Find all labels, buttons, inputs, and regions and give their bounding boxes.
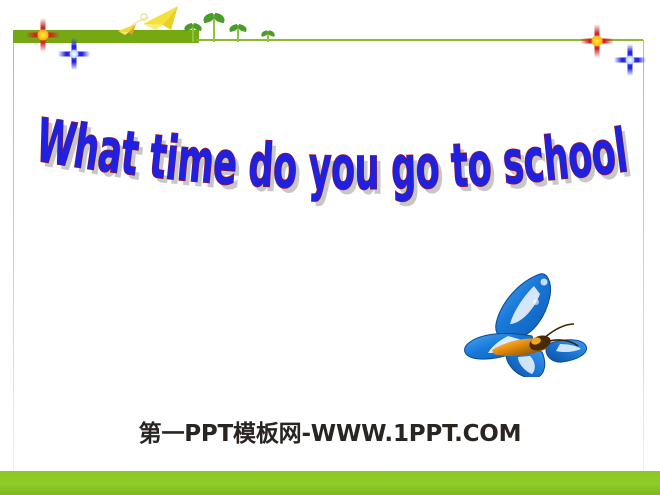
sparkle-star-icon [614,44,646,76]
sparkle-star-icon [58,38,90,70]
sprout-icon [185,24,201,42]
bottom-decorative-band [0,471,660,495]
slide-title: What time do you go to school What time … [0,108,660,223]
sprout-icon [262,31,274,42]
presentation-slide: What time do you go to school What time … [0,0,660,495]
right-vertical-rule [643,40,644,470]
plane-motion-swirl-icon [124,8,164,34]
sparkle-star-icon [580,24,614,58]
sparkle-star-icon [26,18,60,52]
butterfly-image [448,252,588,382]
sprout-icon [230,25,246,42]
left-vertical-rule [13,40,14,470]
footer-watermark: 第一PPT模板网-WWW.1PPT.COM [0,414,660,448]
sprout-icon [204,14,224,42]
